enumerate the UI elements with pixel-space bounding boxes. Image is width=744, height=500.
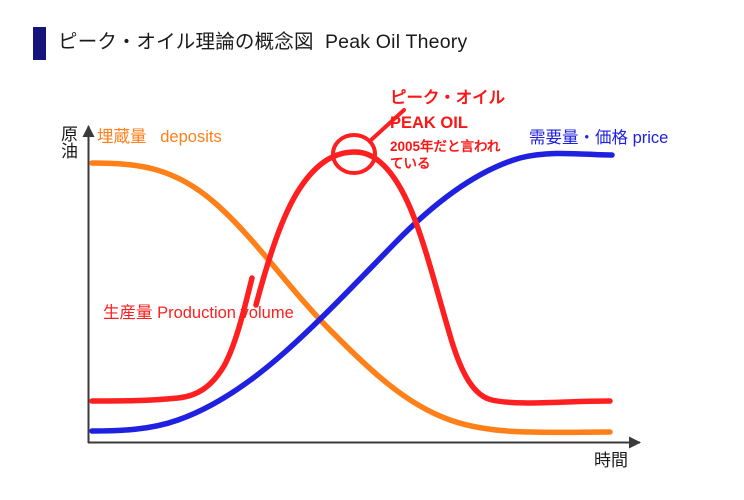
y-axis-label: 原油: [54, 125, 76, 159]
label-deposits: 埋蔵量 deposits: [97, 127, 222, 147]
curve-production-left-tail: [92, 278, 252, 401]
curve-price: [92, 153, 612, 431]
chart-plot-area: 原油 時間 埋蔵量 deposits 生産量 Production volume…: [0, 0, 744, 500]
chart-svg: [0, 0, 744, 500]
curve-production: [256, 152, 610, 403]
peak-annotation: ピーク・オイル PEAK OIL 2005年だと言われ ている: [390, 88, 505, 173]
peak-annotation-jp: ピーク・オイル: [390, 88, 505, 109]
slide-canvas: ピーク・オイル理論の概念図 Peak Oil Theory: [0, 0, 744, 500]
label-price: 需要量・価格 price: [529, 128, 668, 148]
peak-annotation-note: 2005年だと言われ ている: [390, 138, 505, 173]
label-production: 生産量 Production volume: [103, 303, 294, 323]
curve-deposits: [92, 163, 610, 432]
x-axis-label: 時間: [594, 452, 628, 469]
peak-annotation-en: PEAK OIL: [390, 113, 505, 134]
